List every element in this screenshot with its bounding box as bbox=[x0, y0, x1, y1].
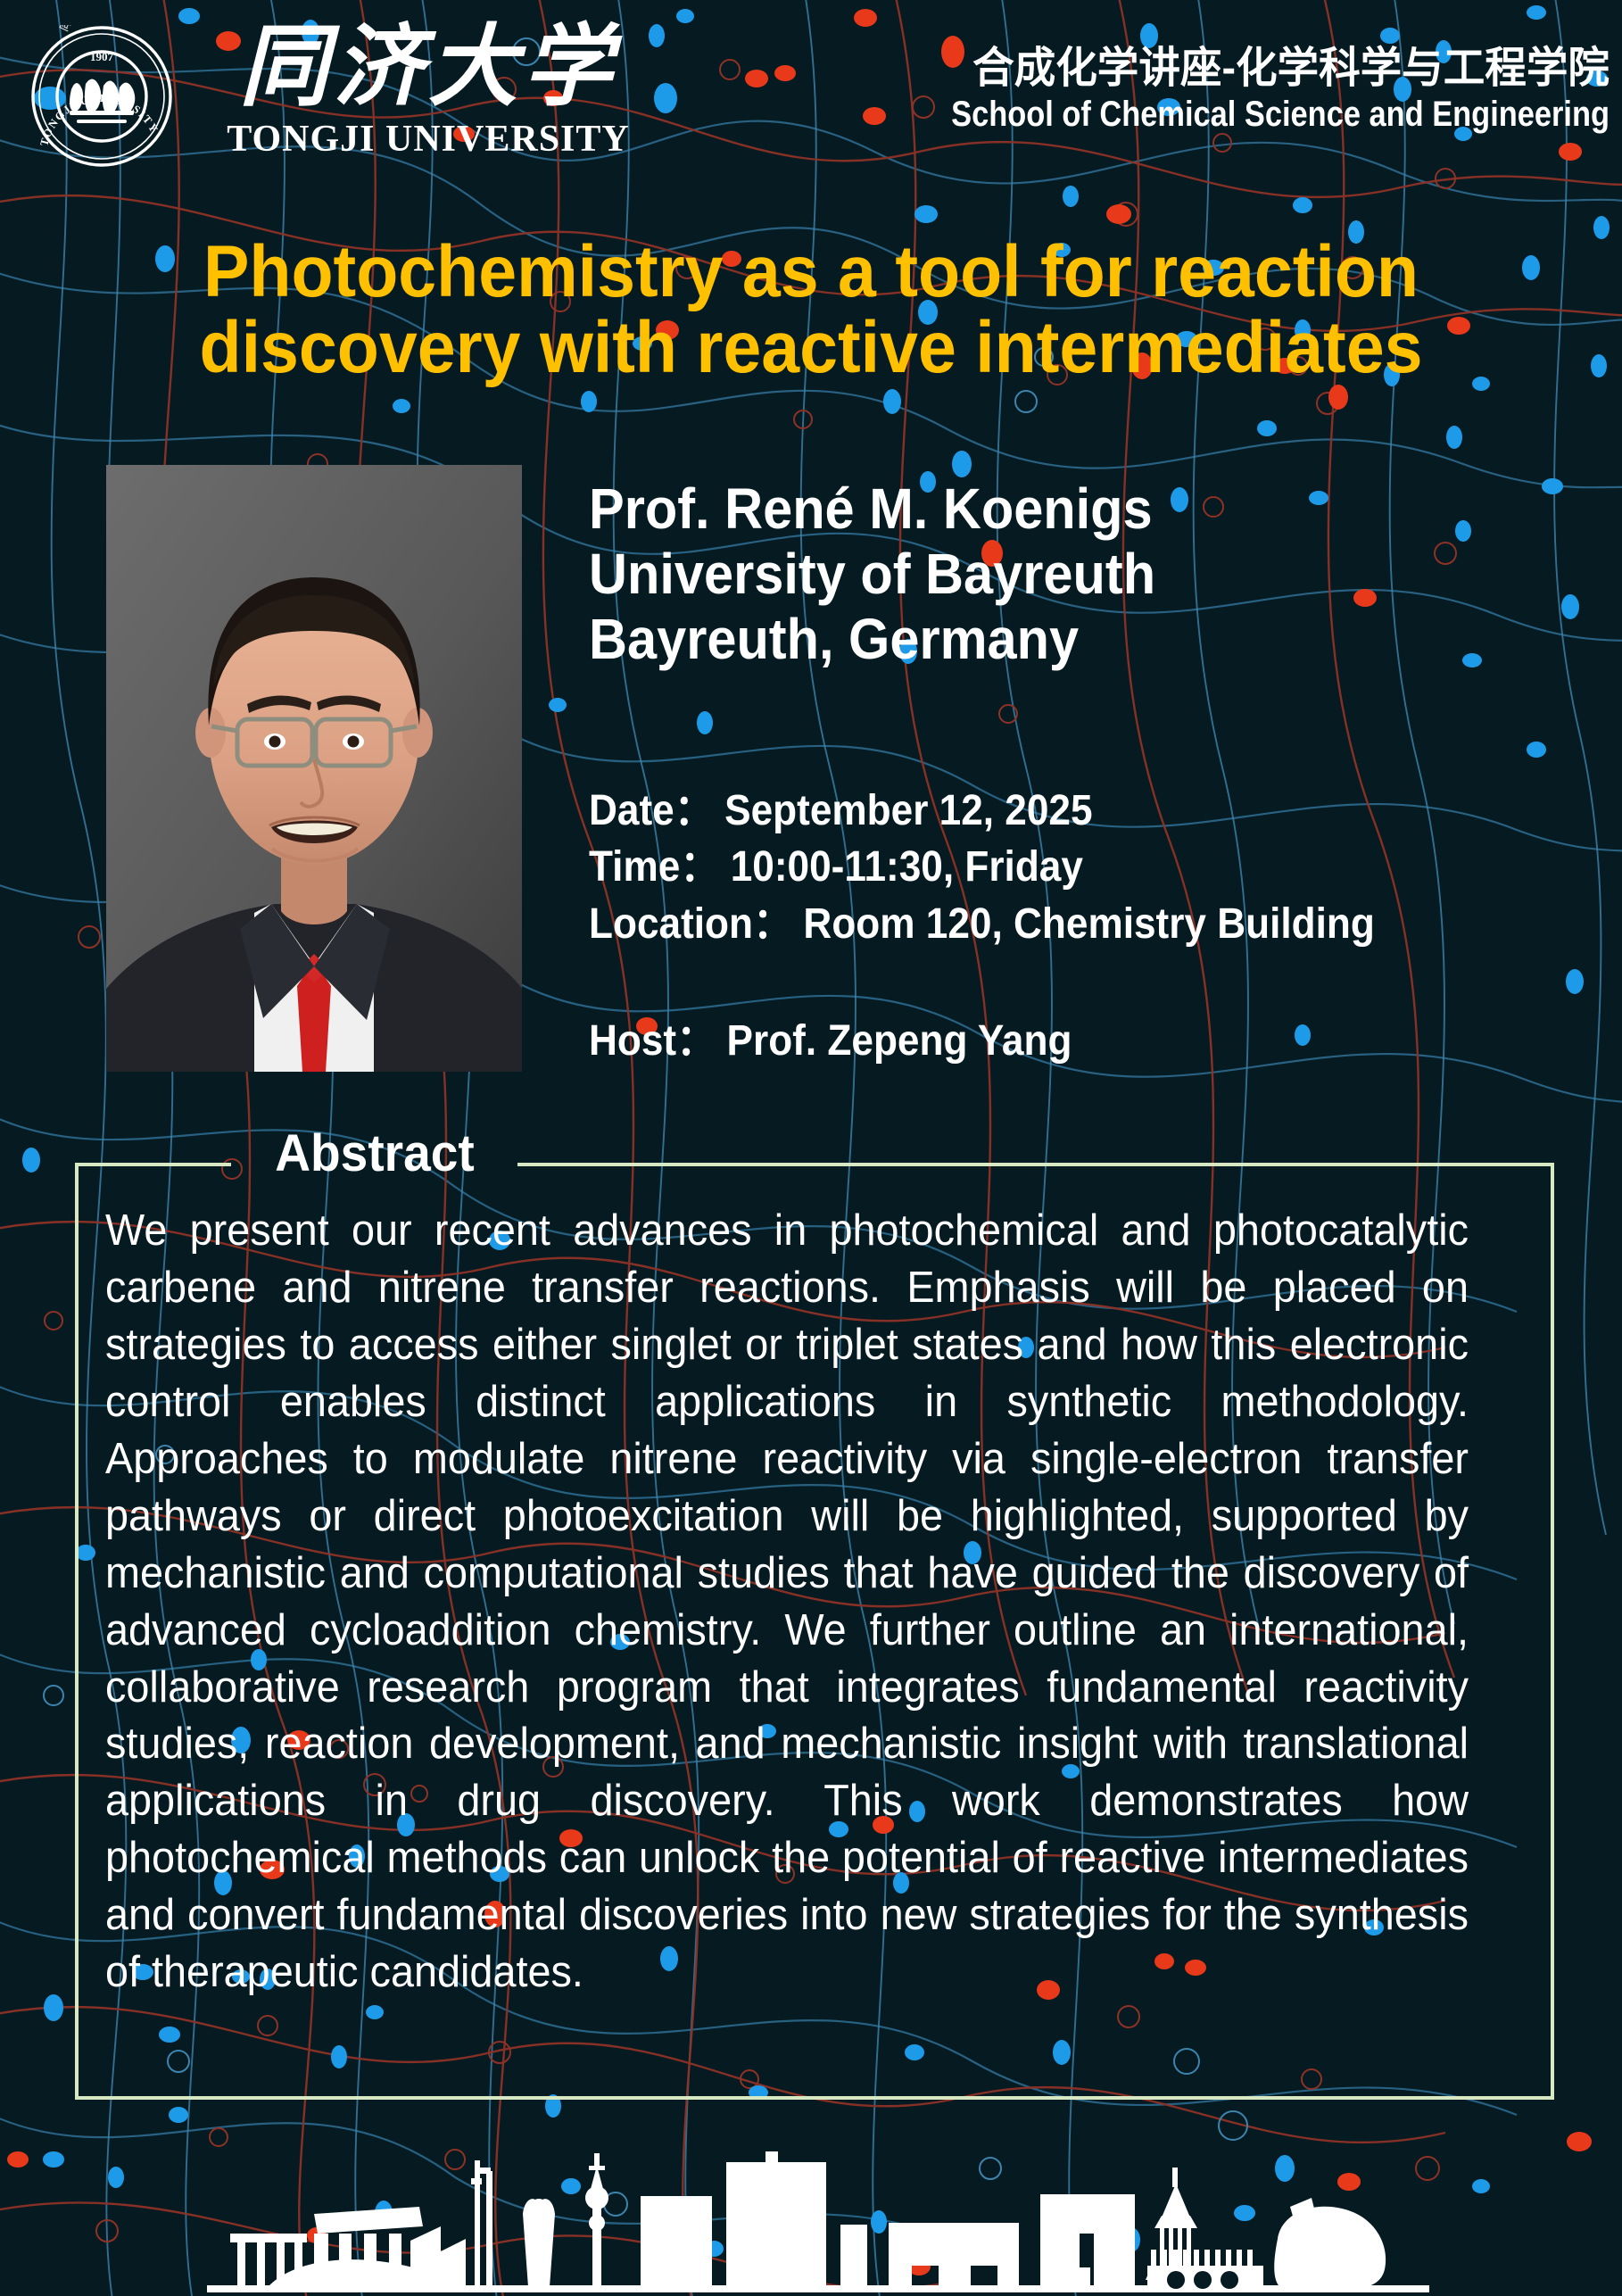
abstract-body-text: We present our recent advances in photoc… bbox=[105, 1203, 1469, 2002]
abstract-border-right-segment bbox=[517, 1163, 1554, 1166]
event-time: Time： 10:00-11:30, Friday bbox=[589, 839, 1525, 895]
svg-text:1907: 1907 bbox=[90, 50, 114, 63]
page-title: Photochemistry as a tool for reaction di… bbox=[49, 234, 1574, 386]
university-name-en: TONGJI UNIVERSITY bbox=[178, 118, 678, 161]
speaker-portrait-photo bbox=[106, 465, 522, 1072]
tongji-university-seal-icon: 1907 TONGJI UNIVERSITY 同 济 大 学 bbox=[30, 25, 173, 168]
speaker-city-country: Bayreuth, Germany bbox=[589, 607, 1502, 672]
city-skyline-silhouette-icon bbox=[0, 2109, 1622, 2296]
seminar-poster: 1907 TONGJI UNIVERSITY 同 济 大 学 bbox=[0, 0, 1622, 2296]
title-line-2: discovery with reactive intermediates bbox=[91, 310, 1532, 385]
poster-header: 1907 TONGJI UNIVERSITY 同 济 大 学 bbox=[0, 0, 1622, 214]
abstract-heading: Abstract bbox=[244, 1128, 507, 1180]
event-date: Date： September 12, 2025 bbox=[589, 783, 1525, 839]
university-wordmark: 同济大学 TONGJI UNIVERSITY bbox=[178, 18, 678, 187]
department-block: 合成化学讲座-化学科学与工程学院 School of Chemical Scie… bbox=[807, 46, 1610, 134]
department-name-cn: 合成化学讲座-化学科学与工程学院 bbox=[831, 46, 1610, 91]
department-name-en: School of Chemical Science and Engineeri… bbox=[919, 95, 1610, 134]
speaker-affiliation: University of Bayreuth bbox=[589, 542, 1502, 607]
event-details-block: Date： September 12, 2025 Time： 10:00-11:… bbox=[589, 783, 1606, 952]
abstract-border-left-segment bbox=[75, 1163, 231, 1166]
speaker-name: Prof. René M. Koenigs bbox=[589, 477, 1502, 542]
event-host: Host： Prof. Zepeng Yang bbox=[589, 1013, 1525, 1069]
title-line-1: Photochemistry as a tool for reaction bbox=[91, 234, 1532, 310]
event-host-block: Host： Prof. Zepeng Yang bbox=[589, 1013, 1606, 1069]
university-name-cn: 同济大学 bbox=[178, 23, 678, 112]
event-location: Location： Room 120, Chemistry Building bbox=[589, 896, 1525, 952]
speaker-info-block: Prof. René M. Koenigs University of Bayr… bbox=[589, 477, 1570, 672]
